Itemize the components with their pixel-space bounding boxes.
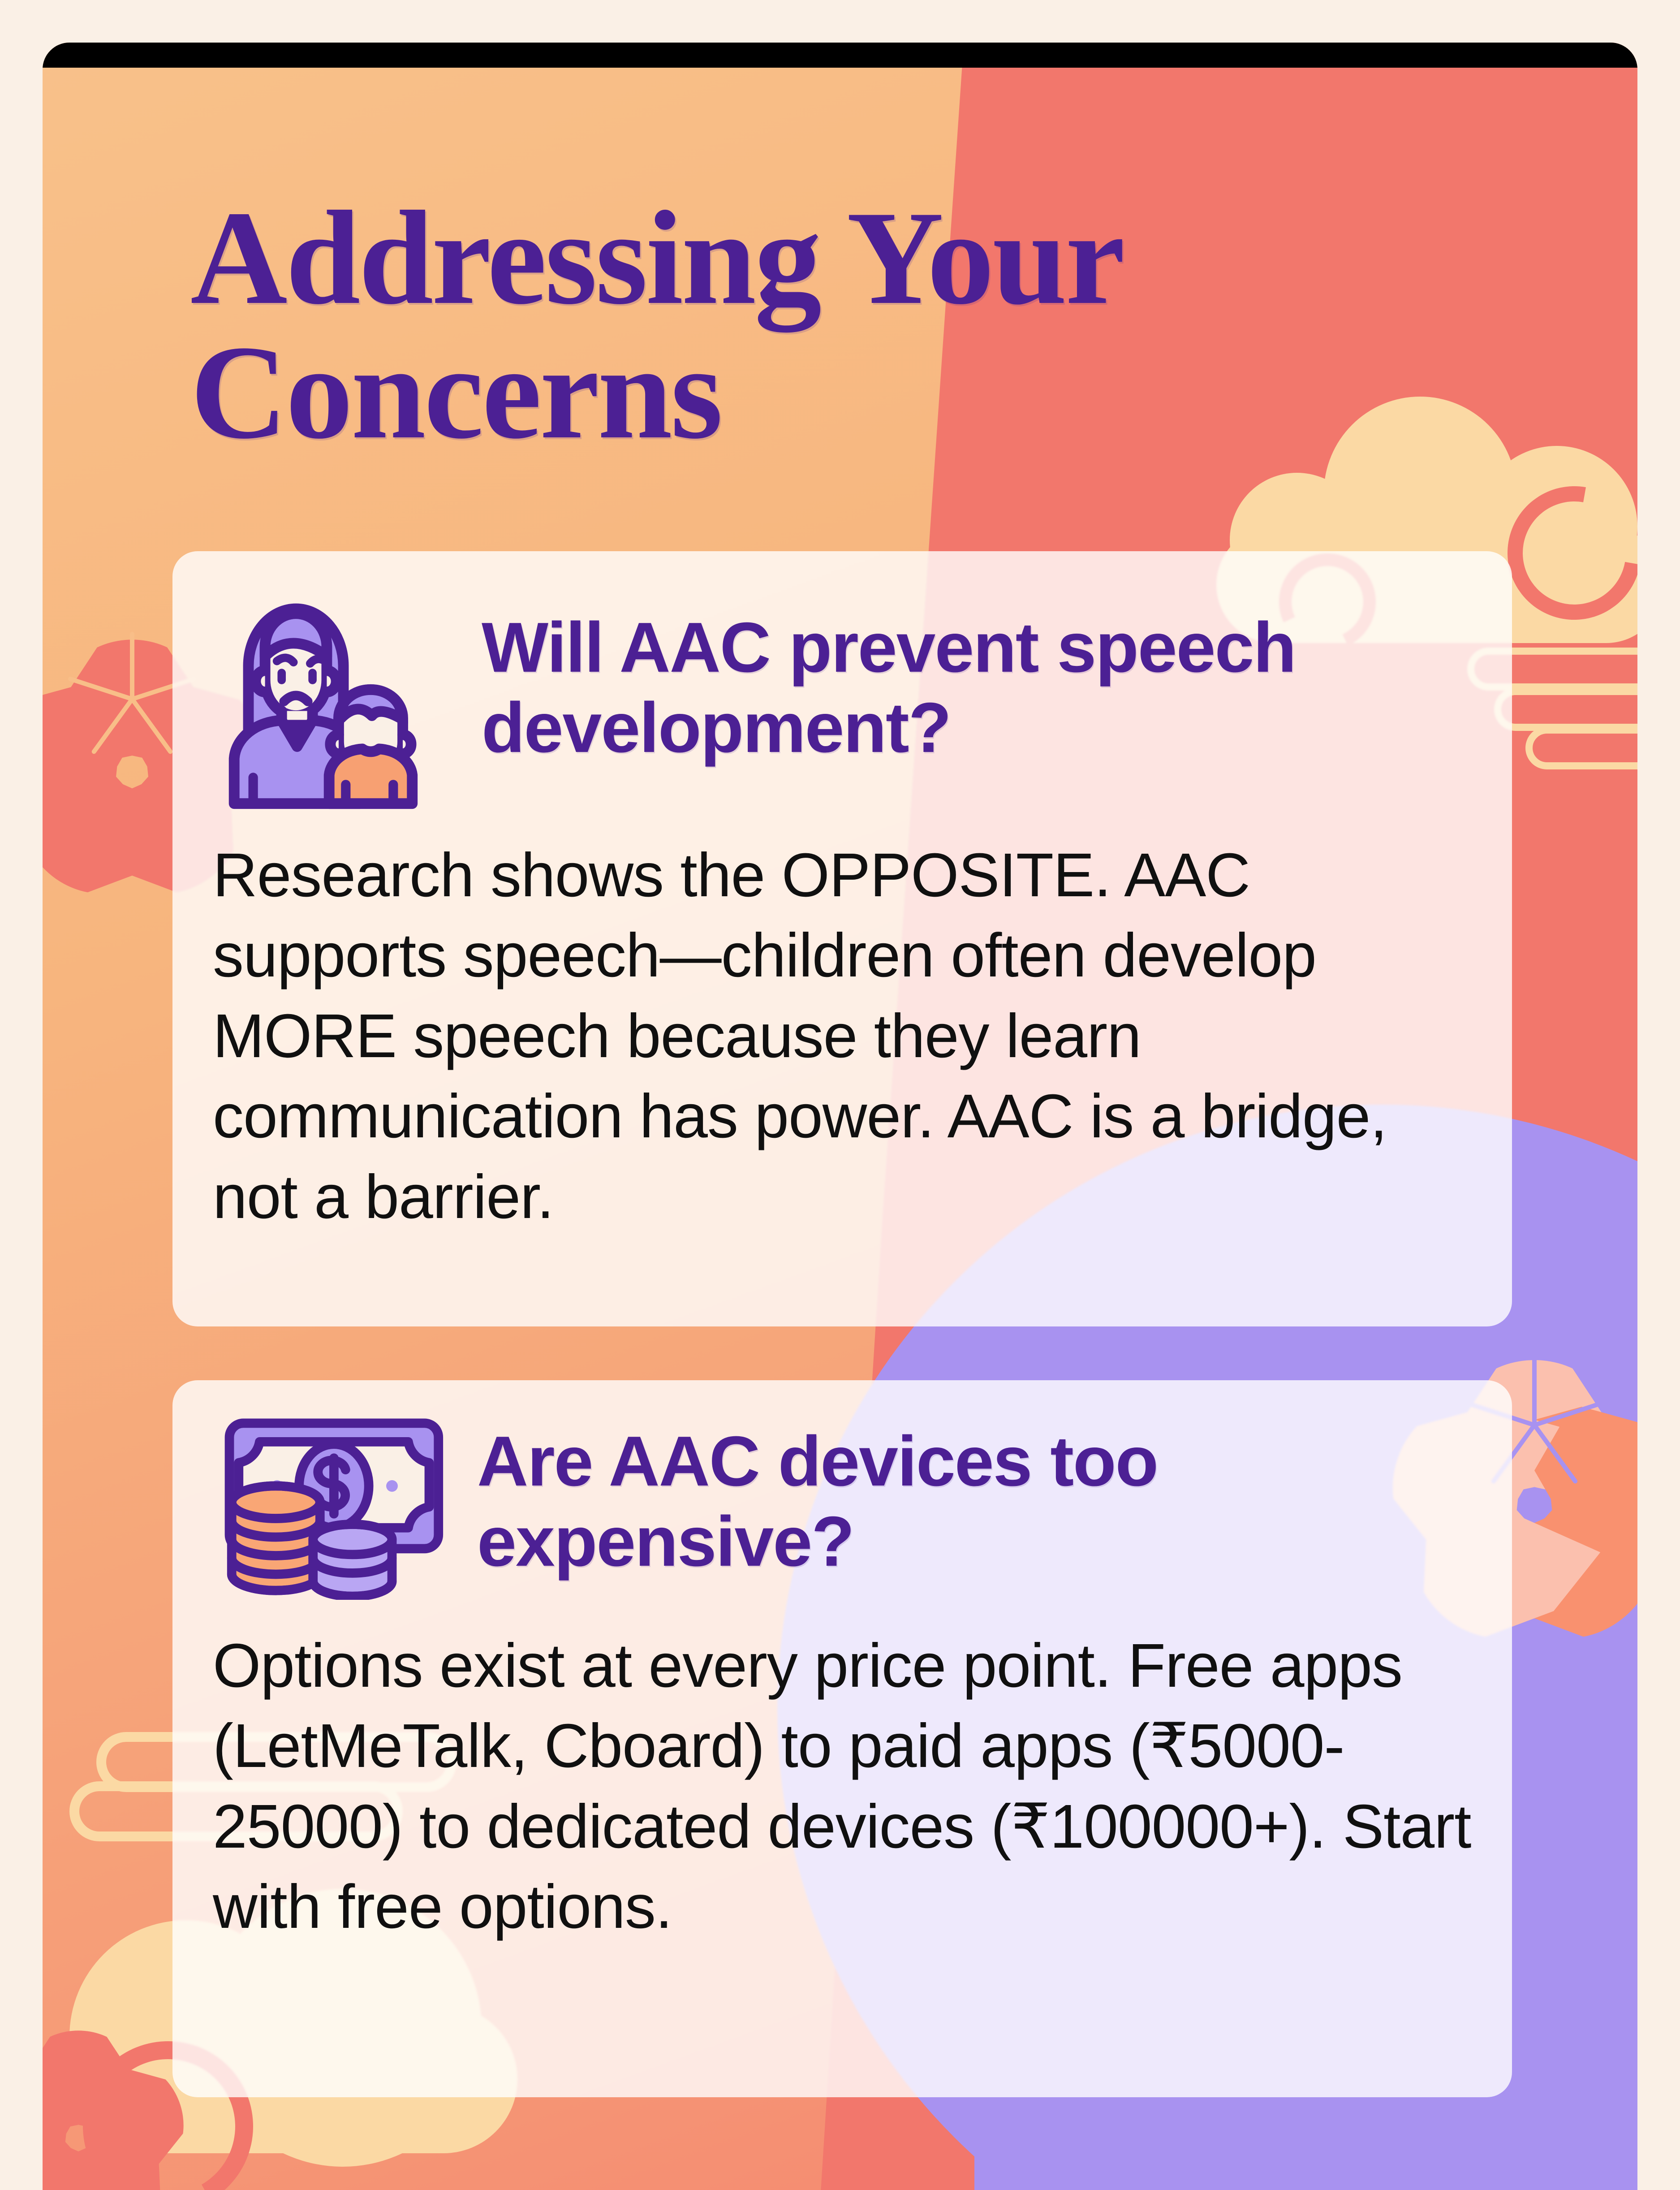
card-body-text: Research shows the OPPOSITE. AAC support… <box>213 835 1472 1237</box>
concern-card-cost: Are AAC devices too expensive? Options e… <box>172 1380 1512 2097</box>
device-notch-bar <box>43 43 1637 68</box>
worried-parent-and-child-icon <box>213 583 450 816</box>
concern-card-speech: Will AAC prevent speech development? Res… <box>172 551 1512 1326</box>
card-header: Are AAC devices too expensive? <box>213 1412 1472 1600</box>
card-header: Will AAC prevent speech development? <box>213 583 1472 816</box>
card-title: Will AAC prevent speech development? <box>482 608 1472 768</box>
card-body-text: Options exist at every price point. Free… <box>213 1626 1472 1948</box>
poster-canvas: Addressing Your Concerns <box>43 43 1637 2190</box>
page-title: Addressing Your Concerns <box>190 190 1400 459</box>
card-title: Are AAC devices too expensive? <box>477 1421 1472 1581</box>
money-banknote-coins-icon <box>213 1412 446 1600</box>
